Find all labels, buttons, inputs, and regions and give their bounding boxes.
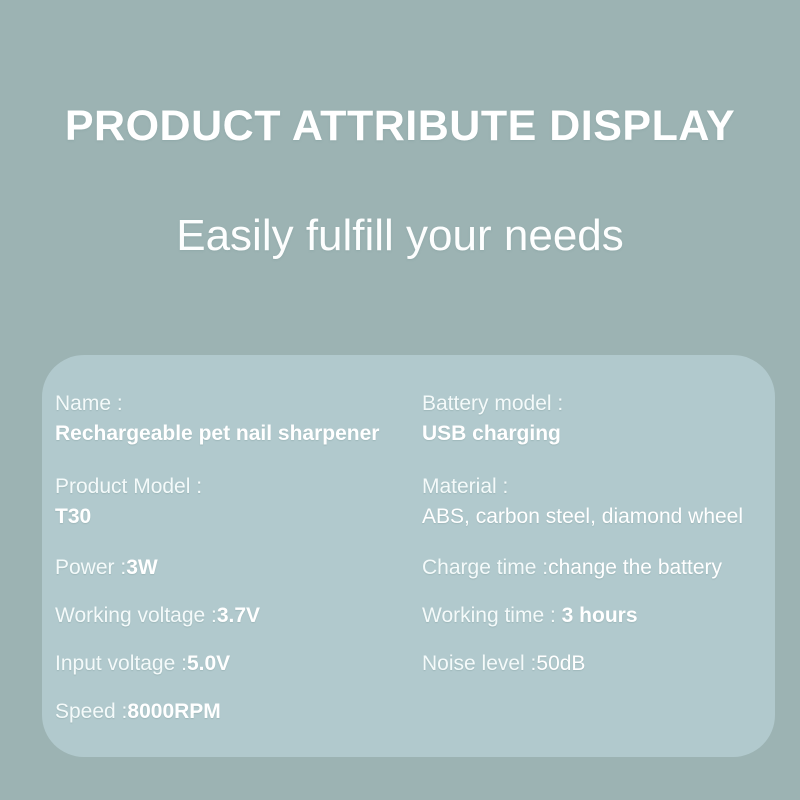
spec-value: 8000RPM [127,700,220,723]
spec-row: Speed :8000RPM [55,697,221,727]
spec-column-right: Battery model :USB chargingMaterial :ABS… [422,355,772,757]
spec-row: Battery model :USB charging [422,389,563,449]
spec-row: Power :3W [55,553,158,583]
spec-value: 3.7V [217,604,260,627]
spec-label: Name : [55,392,123,415]
spec-label: Power : [55,556,126,579]
spec-value: Rechargeable pet nail sharpener [55,419,379,449]
spec-value: T30 [55,502,202,532]
spec-label: Material : [422,475,508,498]
spec-label: Battery model : [422,392,563,415]
spec-label: Input voltage : [55,652,187,675]
spec-label: Working voltage : [55,604,217,627]
spec-label: Product Model : [55,475,202,498]
spec-card: Name :Rechargeable pet nail sharpenerPro… [42,355,775,757]
spec-label: Working time : [422,604,562,627]
spec-value: USB charging [422,419,563,449]
spec-columns: Name :Rechargeable pet nail sharpenerPro… [42,355,775,757]
spec-row: Material :ABS, carbon steel, diamond whe… [422,472,743,532]
spec-value: 3W [126,556,158,579]
spec-label: Charge time : [422,556,548,579]
spec-row: Working voltage :3.7V [55,601,260,631]
page-subtitle: Easily fulfill your needs [0,212,800,260]
spec-row: Product Model :T30 [55,472,202,532]
page-title: PRODUCT ATTRIBUTE DISPLAY [0,104,800,149]
spec-row: Working time : 3 hours [422,601,638,631]
spec-label: Noise level : [422,652,536,675]
spec-value: 5.0V [187,652,230,675]
spec-value: 3 hours [562,604,638,627]
spec-row: Name :Rechargeable pet nail sharpener [55,389,379,449]
spec-row: Input voltage :5.0V [55,649,230,679]
spec-value: change the battery [548,556,722,579]
spec-row: Noise level :50dB [422,649,585,679]
spec-column-left: Name :Rechargeable pet nail sharpenerPro… [55,355,423,757]
spec-value: ABS, carbon steel, diamond wheel [422,502,743,532]
spec-row: Charge time :change the battery [422,553,722,583]
spec-label: Speed : [55,700,127,723]
product-attribute-page: { "header": { "title": "PRODUCT ATTRIBUT… [0,0,800,800]
spec-value: 50dB [536,652,585,675]
